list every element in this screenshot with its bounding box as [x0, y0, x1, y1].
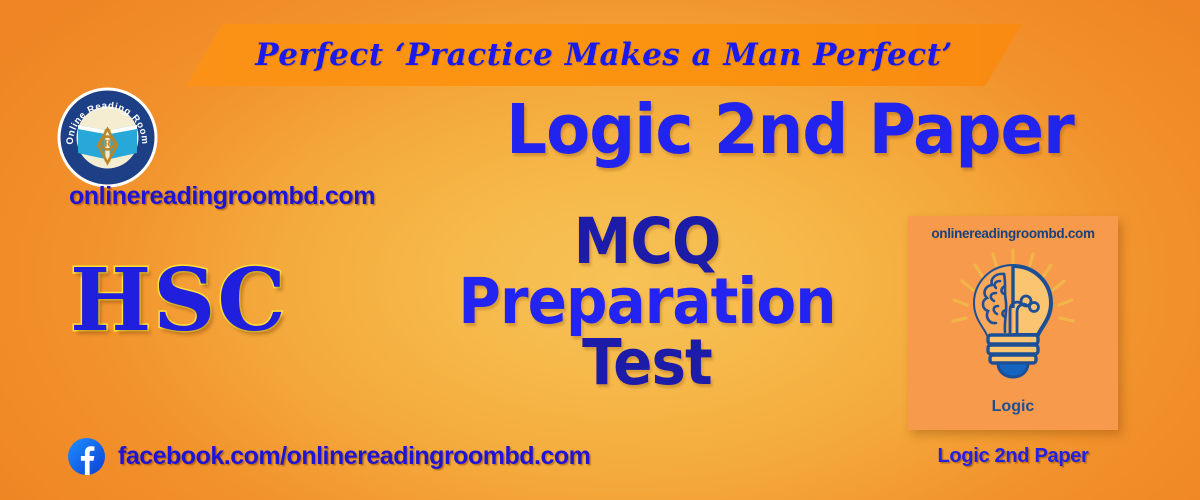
- facebook-url-text: facebook.com/onlinereadingroombd.com: [118, 442, 590, 471]
- facebook-icon[interactable]: [68, 438, 105, 475]
- tagline-text: Perfect ‘Practice Makes a Man Perfect’: [186, 24, 1022, 86]
- thumbnail-caption: Logic 2nd Paper: [898, 445, 1128, 468]
- online-reading-room-logo: R Online Reading Room: [55, 85, 160, 190]
- facebook-link[interactable]: facebook.com/onlinereadingroombd.com: [68, 438, 590, 475]
- subtitle-block: MCQ Preparation Test: [431, 212, 863, 393]
- thumbnail-subject-label: Logic: [908, 398, 1118, 416]
- subtitle-line-mcq: MCQ: [431, 212, 863, 272]
- subtitle-line-test: Test: [431, 333, 863, 393]
- page-title: Logic 2nd Paper: [446, 96, 1134, 165]
- svg-text:R: R: [104, 139, 111, 149]
- hsc-label: HSC: [70, 258, 288, 344]
- tagline-ribbon: Perfect ‘Practice Makes a Man Perfect’: [186, 24, 1022, 86]
- brain-lightbulb-icon: [938, 248, 1088, 380]
- site-url-text: onlinereadingroombd.com: [52, 182, 392, 211]
- subtitle-line-preparation: Preparation: [431, 272, 863, 332]
- promo-banner: Perfect ‘Practice Makes a Man Perfect’ R…: [0, 0, 1200, 500]
- thumbnail-url-text: onlinereadingroombd.com: [908, 226, 1118, 241]
- course-thumbnail-card[interactable]: onlinereadingroombd.com: [908, 216, 1118, 430]
